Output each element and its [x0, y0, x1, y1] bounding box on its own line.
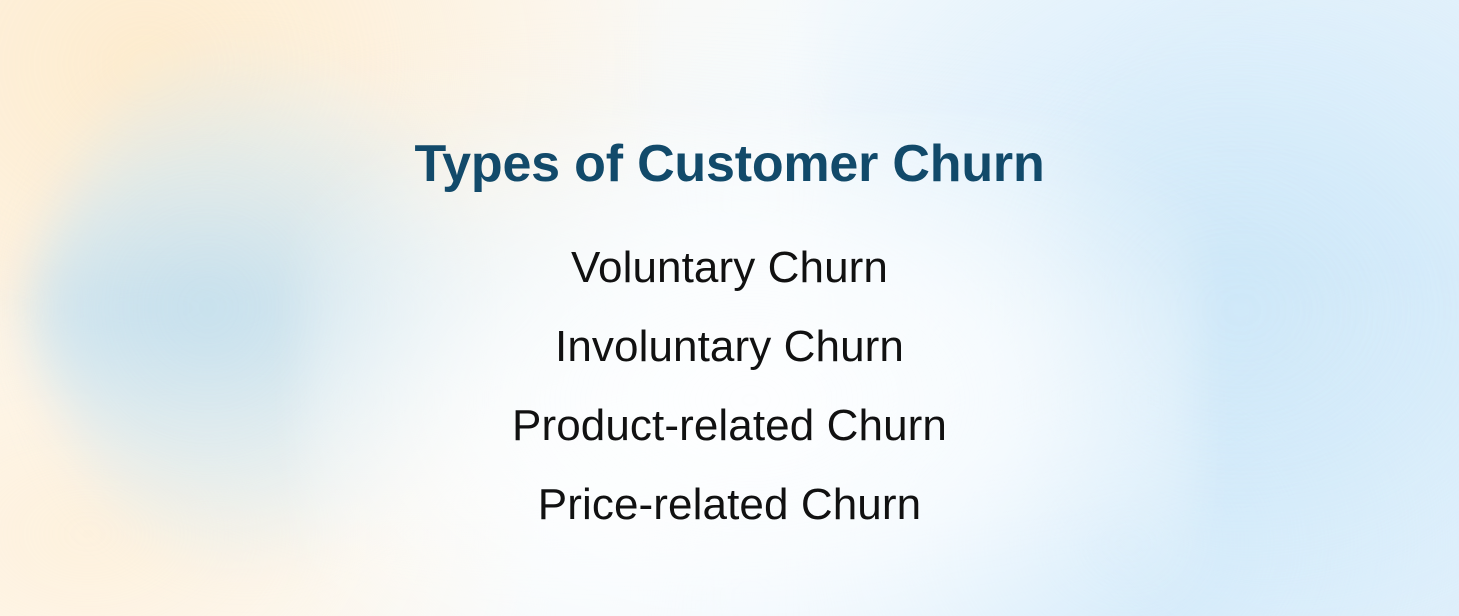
list-item: Voluntary Churn: [0, 228, 1459, 307]
list-item: Price-related Churn: [0, 465, 1459, 544]
list-item: Product-related Churn: [0, 386, 1459, 465]
list-item: Involuntary Churn: [0, 307, 1459, 386]
page-title: Types of Customer Churn: [0, 134, 1459, 194]
slide-canvas: Types of Customer Churn Voluntary Churn …: [0, 0, 1459, 616]
churn-types-list: Voluntary Churn Involuntary Churn Produc…: [0, 228, 1459, 544]
slide-content: Types of Customer Churn Voluntary Churn …: [0, 0, 1459, 616]
